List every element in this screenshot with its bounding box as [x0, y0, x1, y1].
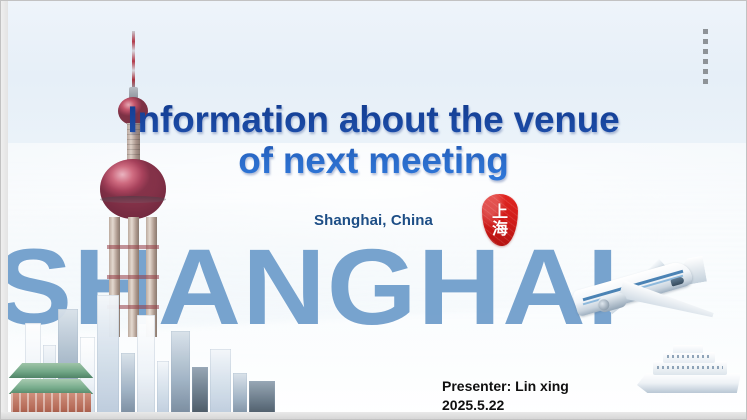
- title-line-1: Information about the venue: [127, 99, 619, 140]
- seal-char-bottom: 海: [492, 220, 508, 237]
- dot-icon: [703, 79, 708, 84]
- dot-icon: [703, 59, 708, 64]
- decorative-dots: [703, 29, 708, 84]
- dot-icon: [703, 39, 708, 44]
- presentation-slide: SHANGHAI: [0, 0, 747, 420]
- title-line-2: of next meeting: [1, 140, 746, 181]
- dot-icon: [703, 69, 708, 74]
- presenter-block: Presenter: Lin xing 2025.5.22: [442, 377, 569, 415]
- seal-char-top: 上: [492, 203, 508, 220]
- subtitle-location: Shanghai, China: [1, 212, 746, 229]
- dot-icon: [703, 49, 708, 54]
- shanghai-wordmark: SHANGHAI: [0, 233, 747, 341]
- seal-characters: 上 海: [482, 194, 518, 246]
- page-title: Information about the venue of next meet…: [1, 99, 746, 181]
- shanghai-seal-stamp-icon: 上 海: [482, 194, 518, 246]
- left-edge-border: [1, 1, 8, 419]
- dot-icon: [703, 29, 708, 34]
- presenter-name: Presenter: Lin xing: [442, 377, 569, 396]
- bottom-edge-border: [1, 412, 746, 419]
